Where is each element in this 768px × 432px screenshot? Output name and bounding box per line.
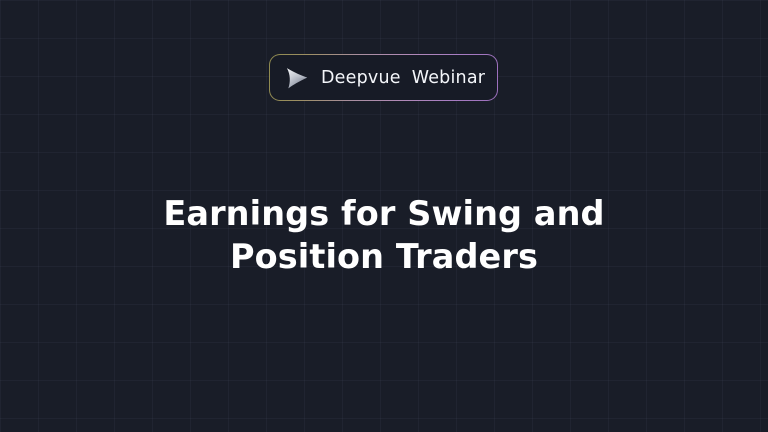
webinar-title-slide: Deepvue Webinar Earnings for Swing and P… xyxy=(0,0,768,432)
badge-gradient-border: Deepvue Webinar xyxy=(269,54,498,101)
badge-content: Deepvue Webinar xyxy=(270,55,497,100)
page-title-line-1: Earnings for Swing and xyxy=(0,192,768,235)
webinar-badge: Deepvue Webinar xyxy=(269,54,498,101)
badge-label: Deepvue Webinar xyxy=(321,68,485,88)
page-title-line-2: Position Traders xyxy=(0,235,768,278)
badge-brand-text: Deepvue xyxy=(321,68,401,88)
badge-kind-text: Webinar xyxy=(412,68,485,88)
page-title: Earnings for Swing and Position Traders xyxy=(0,192,768,278)
deepvue-play-logo-icon xyxy=(282,63,312,93)
